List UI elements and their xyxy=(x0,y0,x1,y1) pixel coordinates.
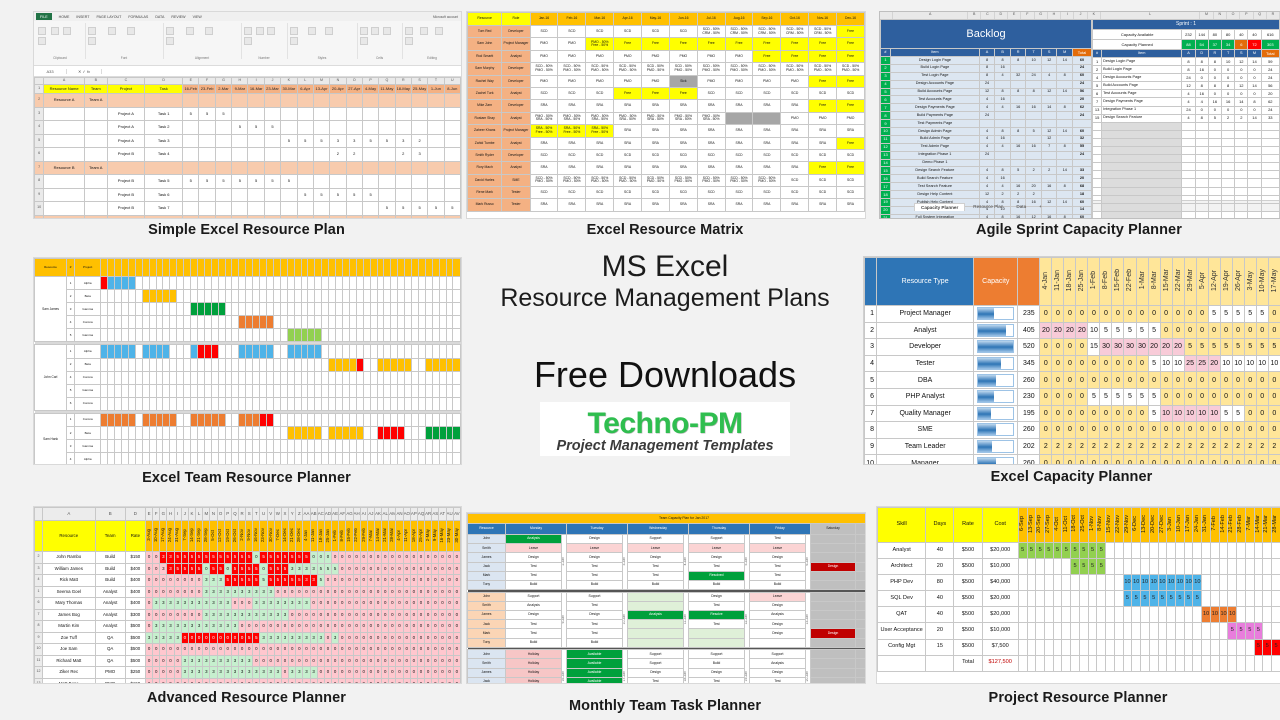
date-header-21-Mar[interactable]: 21-Mar xyxy=(382,521,389,552)
corner-cell[interactable] xyxy=(35,78,44,85)
column-header-E[interactable]: E xyxy=(183,78,199,85)
p2-col-header[interactable]: Resource xyxy=(468,13,502,26)
ribbon-icon[interactable] xyxy=(88,27,96,35)
p4-col-header[interactable]: # xyxy=(67,259,75,277)
ribbon-icon[interactable] xyxy=(51,27,59,35)
table-row[interactable]: 4Rick MattBuild$400000000003335555555555… xyxy=(35,575,461,587)
table-row[interactable]: Rory MachAnalystSRASRASRASRASRASRASRASRA… xyxy=(468,162,865,174)
column-header-AP[interactable]: AP xyxy=(410,508,417,521)
p4-date-header[interactable] xyxy=(349,259,356,277)
date-header-6-Dec[interactable]: 6-Dec xyxy=(1132,508,1141,543)
date-header-23-Nov[interactable]: 23-Nov xyxy=(260,521,267,552)
table-row[interactable]: 21Full System Integration48161216860 xyxy=(881,214,1092,219)
date-header-7-Sep[interactable]: 7-Sep xyxy=(181,521,188,552)
p4-date-header[interactable] xyxy=(425,259,432,277)
table-row[interactable]: David HarlesSMESCD - 50%PMO - 50%SCD - 5… xyxy=(468,174,865,186)
date-header-25-Jan[interactable]: 25-Jan xyxy=(1076,258,1088,306)
sheet-column-E[interactable]: E xyxy=(1008,12,1021,19)
column-header-Y[interactable]: Y xyxy=(289,508,296,521)
p6-table[interactable]: ABDEFGHIJKLMNOPQRSTUVWXYZAAABACADAEAFAGA… xyxy=(34,507,461,684)
ribbon-icon[interactable] xyxy=(244,27,252,35)
column-header-S[interactable]: S xyxy=(411,78,427,85)
column-header-P[interactable]: P xyxy=(362,78,378,85)
column-header-AE[interactable]: AE xyxy=(332,508,339,521)
p4-col-header[interactable]: Project xyxy=(75,259,101,277)
excel-ribbon-body[interactable]: ClipboardFontAlignmentNumberStylesCellsE… xyxy=(34,21,461,66)
table-row[interactable]: JohnAnalysis2-JanDesign3-JanSupport4-Jan… xyxy=(468,535,867,544)
table-row[interactable]: Zahid TumbeAnalystSRASRASRASRASRASRASRAS… xyxy=(468,137,865,149)
table-row[interactable]: Sam James1Alphaxxxxx xyxy=(35,277,461,290)
date-header-30-May[interactable]: 30-May xyxy=(453,521,460,552)
p3-backlog-sprint-grid[interactable]: Backlog#ItemABRTSMTotal1Design Login Pag… xyxy=(880,19,1280,200)
column-header-X[interactable]: X xyxy=(281,508,288,521)
ribbon-icon[interactable] xyxy=(435,27,443,35)
column-header-N[interactable]: N xyxy=(330,78,346,85)
date-header-11-Jan[interactable]: 11-Jan xyxy=(1052,258,1064,306)
column-header-AS[interactable]: AS xyxy=(432,508,439,521)
table-row[interactable]: 15Design Search Feature485221433 xyxy=(881,167,1092,175)
ribbon-icon[interactable] xyxy=(420,27,428,35)
table-row[interactable]: 13Integration Phase 12424 xyxy=(881,151,1092,159)
p4-date-header[interactable] xyxy=(267,259,274,277)
table-row[interactable]: 7Resource BTeam A xyxy=(35,161,461,175)
table-row[interactable]: 4Coronaxxxxx xyxy=(35,316,461,329)
p2-col-header[interactable]: May-16 xyxy=(642,13,670,26)
p8-table[interactable]: SkillDaysRateCost6-Sep13-Sep20-Sep27-Sep… xyxy=(877,507,1280,672)
p4-date-header[interactable] xyxy=(432,259,439,277)
ribbon-tab-review[interactable]: REVIEW xyxy=(171,15,185,19)
p4-date-header[interactable] xyxy=(273,259,280,277)
column-header-P[interactable]: P xyxy=(224,508,231,521)
sprint-col-header[interactable]: Item xyxy=(1102,50,1182,58)
table-row[interactable]: 4Design Accounts Page2424 xyxy=(881,80,1092,88)
column-header-Q[interactable]: Q xyxy=(231,508,238,521)
p4-date-header[interactable] xyxy=(308,259,315,277)
column-header-G[interactable]: G xyxy=(215,78,231,85)
date-header-7-Feb[interactable]: 7-Feb xyxy=(1210,508,1219,543)
table-row[interactable]: 3Test Login Page8432244860 xyxy=(881,72,1092,80)
table-row[interactable]: Rachel WayDeveloperPMOPMOPMOPMOPMOSickPM… xyxy=(468,75,865,87)
column-header-B[interactable]: B xyxy=(85,78,107,85)
sheet-column-corner[interactable] xyxy=(880,12,893,19)
date-header-6-Sep[interactable]: 6-Sep xyxy=(1018,508,1027,543)
p8-project-grid[interactable]: SkillDaysRateCost6-Sep13-Sep20-Sep27-Sep… xyxy=(877,507,1280,672)
date-header-9-May[interactable]: 9-May xyxy=(432,521,439,552)
p4-date-header[interactable] xyxy=(197,259,204,277)
p2-col-header[interactable]: Jul-16 xyxy=(697,13,725,26)
table-row[interactable]: 4Alpha xyxy=(35,453,461,465)
p2-col-header[interactable]: Aug-16 xyxy=(725,13,753,26)
p7-col-header-wednesday[interactable]: Wednesday xyxy=(628,524,689,535)
table-row[interactable]: 3William JamesBuild$40000335555055055550… xyxy=(35,563,461,575)
sheet-column-H[interactable]: H xyxy=(1048,12,1061,19)
panel-monthly-team-task-planner[interactable]: Team Capacity Plan for Jan 2017ResourceM… xyxy=(466,512,866,684)
date-header-10-Jan[interactable]: 10-Jan xyxy=(1176,508,1185,543)
table-row[interactable]: 2John RamboBuild$15000335555555555505555… xyxy=(35,552,461,564)
date-header-26-Apr[interactable]: 26-Apr xyxy=(1232,258,1244,306)
column-header-K[interactable]: K xyxy=(281,78,297,85)
table-row[interactable]: 14Demo Phase 1 xyxy=(881,159,1092,167)
column-header-AO[interactable]: AO xyxy=(403,508,410,521)
column-header-J[interactable]: J xyxy=(181,508,188,521)
ribbon-icon[interactable] xyxy=(290,37,298,45)
date-header-2-May[interactable]: 2-May xyxy=(425,521,432,552)
table-row[interactable]: 13Matt BosePMO$1500000000000000000000000… xyxy=(35,678,461,684)
row-header[interactable]: 8 xyxy=(35,175,44,189)
sprint-col-header[interactable]: T xyxy=(1222,50,1235,58)
table-row[interactable]: JohnHoliday16-JanAvailable17-JanSupport1… xyxy=(468,650,867,659)
column-header-AK[interactable]: AK xyxy=(374,508,381,521)
table-row[interactable]: 2Build Login Page81624 xyxy=(881,64,1092,72)
sprint-col-header[interactable]: S xyxy=(1235,50,1248,58)
sheet-column-M[interactable]: M xyxy=(1200,12,1213,19)
column-header-AD[interactable]: AD xyxy=(324,508,331,521)
table-row[interactable]: 2Betaxxxxx xyxy=(35,290,461,303)
date-header-7-Dec[interactable]: 7-Dec xyxy=(274,521,281,552)
p4-date-header[interactable] xyxy=(301,259,308,277)
sheet-tab-resource-plan[interactable]: Resource Plan xyxy=(968,203,1008,210)
p4-date-header[interactable] xyxy=(329,259,336,277)
sprint-col-header[interactable]: # xyxy=(1093,50,1102,58)
column-header-M[interactable]: M xyxy=(313,78,329,85)
panel-excel-resource-matrix[interactable]: ResourceRoleJan-16Feb-16Mar-16Apr-16May-… xyxy=(466,11,866,219)
table-row[interactable]: Tom RedDeveloperSCDSCDSCDSCDSCDSCDSCD - … xyxy=(468,26,865,38)
p4-date-header[interactable] xyxy=(322,259,329,277)
p4-date-header[interactable] xyxy=(391,259,398,277)
p4-date-header[interactable] xyxy=(294,259,301,277)
date-header-17-May[interactable]: 17-May xyxy=(1268,258,1280,306)
table-row[interactable]: 9Zoe TuffQA$5003333300000000055333333333… xyxy=(35,632,461,644)
panel-project-resource-planner[interactable]: SkillDaysRateCost6-Sep13-Sep20-Sep27-Sep… xyxy=(876,506,1280,684)
table-row[interactable]: 8Build Payments Page2424 xyxy=(881,112,1092,120)
column-header-R[interactable]: R xyxy=(395,78,411,85)
sheet-column-O[interactable]: O xyxy=(1227,12,1240,19)
date-header-15-Feb[interactable]: 15-Feb xyxy=(1112,258,1124,306)
date-header-27-Dec[interactable]: 27-Dec xyxy=(1158,508,1167,543)
table-row[interactable]: 11Resource CTeam A xyxy=(35,215,461,219)
sheet-column-K[interactable]: K xyxy=(1088,12,1101,19)
date-header-25-Jan[interactable]: 25-Jan xyxy=(324,521,331,552)
table-row[interactable]: 2Betaxxxxxxxxxxxxxxx xyxy=(35,358,461,371)
date-header-11-Jan[interactable]: 11-Jan xyxy=(310,521,317,552)
column-header-AQ[interactable]: AQ xyxy=(417,508,424,521)
table-row[interactable]: Rene MarkTesterSCDSCDSCDSCDSCDSCDSCDSCDS… xyxy=(468,187,865,199)
sheet-tab-capacity-planner[interactable]: Capacity Planner xyxy=(914,203,965,211)
table-row[interactable]: 5DBA26000000000000000000000 xyxy=(865,372,1280,389)
column-header-F[interactable]: F xyxy=(153,508,160,521)
ribbon-icon[interactable] xyxy=(256,27,264,35)
column-header-T[interactable]: T xyxy=(253,508,260,521)
date-header-28-Sep[interactable]: 28-Sep xyxy=(203,521,210,552)
table-row[interactable]: 7Design Payments Page44161614862 xyxy=(1093,98,1280,106)
date-header-29-Mar[interactable]: 29-Mar xyxy=(1184,258,1196,306)
ribbon-icon[interactable] xyxy=(38,37,46,45)
ribbon-icon[interactable] xyxy=(405,27,413,35)
p4-date-header[interactable] xyxy=(170,259,177,277)
table-row[interactable]: 2Analyst4052020202010555550000000000 xyxy=(865,322,1280,339)
table-row[interactable]: 10Manager26000000000000000000000 xyxy=(865,455,1280,465)
p4-date-header[interactable] xyxy=(453,259,461,277)
p4-date-header[interactable] xyxy=(418,259,425,277)
ribbon-icon[interactable] xyxy=(383,27,391,35)
date-header-7-Mar[interactable]: 7-Mar xyxy=(367,521,374,552)
add-sheet-icon[interactable]: + xyxy=(1034,203,1047,210)
column-header-Z[interactable]: Z xyxy=(296,508,303,521)
table-row[interactable]: 2Betaxxxxxxxxxxxxxxxxxxx xyxy=(35,427,461,440)
date-header-15-Mar[interactable]: 15-Mar xyxy=(1160,258,1172,306)
column-header-N[interactable]: N xyxy=(210,508,217,521)
p4-date-header[interactable] xyxy=(239,259,246,277)
table-row[interactable]: 4Corona xyxy=(35,371,461,384)
table-row[interactable]: 3Project ATask 1555 xyxy=(35,107,461,121)
p4-date-header[interactable] xyxy=(128,259,135,277)
column-header-AN[interactable]: AN xyxy=(396,508,403,521)
column-header-K[interactable]: K xyxy=(188,508,195,521)
table-row[interactable]: Zaheer KhansProject ManagerSRA - 50%Free… xyxy=(468,125,865,137)
date-header-20-Dec[interactable]: 20-Dec xyxy=(1149,508,1158,543)
p4-date-header[interactable] xyxy=(232,259,239,277)
table-row[interactable]: PHP Dev80$500$40,000101010101010101010 xyxy=(878,575,1280,591)
date-header-4-Jan[interactable]: 4-Jan xyxy=(303,521,310,552)
p2-col-header[interactable]: Feb-16 xyxy=(558,13,586,26)
sheet-column-J[interactable]: J xyxy=(1074,12,1087,19)
table-row[interactable]: Rod SmarttAnalystPMOPMOPMOPMOPMOPMOPMOPM… xyxy=(468,50,865,62)
table-row[interactable]: 11Richard MattQA$50000000333333333300000… xyxy=(35,655,461,667)
ribbon-icon[interactable] xyxy=(38,27,46,35)
p4-date-header[interactable] xyxy=(177,259,184,277)
p4-date-header[interactable] xyxy=(246,259,253,277)
date-header-29-Feb[interactable]: 29-Feb xyxy=(360,521,367,552)
column-header-AC[interactable]: AC xyxy=(317,508,324,521)
p4-table[interactable]: Resource#ProjectSam James1Alphaxxxxx2Bet… xyxy=(34,258,461,465)
date-header-28-Mar[interactable]: 28-Mar xyxy=(389,521,396,552)
table-row[interactable]: 8Martin KimAnalyst$500033333333333300000… xyxy=(35,621,461,633)
sheet-column-G[interactable]: G xyxy=(1035,12,1048,19)
backlog-col-header[interactable]: B xyxy=(995,49,1011,57)
backlog-col-header[interactable]: R xyxy=(1010,49,1026,57)
date-header-7-Mar[interactable]: 7-Mar xyxy=(1245,508,1254,543)
table-row[interactable]: 16Build Search Feature41620 xyxy=(881,175,1092,183)
excel-ribbon-tabs[interactable]: FILE HOME INSERT PAGE LAYOUT FORMULAS DA… xyxy=(34,12,461,21)
table-row[interactable]: 5Gamma xyxy=(35,384,461,397)
sprint-col-header[interactable]: A xyxy=(1182,50,1195,58)
p4-team-planner-grid[interactable]: Resource#ProjectSam James1Alphaxxxxx2Bet… xyxy=(34,258,461,465)
table-row[interactable]: 5Build Accounts Page12888121456 xyxy=(881,88,1092,96)
p4-date-header[interactable] xyxy=(121,259,128,277)
p2-col-header[interactable]: Jan-16 xyxy=(530,13,558,26)
date-header-31-Jan[interactable]: 31-Jan xyxy=(1202,508,1211,543)
column-header-B[interactable]: B xyxy=(95,508,125,521)
table-row[interactable]: QAT40$500$20,00010101010 xyxy=(878,607,1280,623)
ribbon-icon[interactable] xyxy=(360,27,368,35)
excel-formula-bar[interactable]: A33 ✕ ✓ fx xyxy=(34,66,461,77)
ribbon-icon[interactable] xyxy=(244,37,252,45)
p2-table[interactable]: ResourceRoleJan-16Feb-16Mar-16Apr-16May-… xyxy=(467,12,865,212)
date-header-5-Oct[interactable]: 5-Oct xyxy=(210,521,217,552)
table-row[interactable]: 12Ziker RecPMO$2500000033333333333333033… xyxy=(35,667,461,679)
ribbon-tab-file[interactable]: FILE xyxy=(36,13,52,20)
p2-col-header[interactable]: Oct-16 xyxy=(781,13,809,26)
p4-date-header[interactable] xyxy=(384,259,391,277)
table-row[interactable]: 9Team Leader20222222222222222222222 xyxy=(865,438,1280,455)
date-header-1-Nov[interactable]: 1-Nov xyxy=(1088,508,1097,543)
column-header-S[interactable]: S xyxy=(246,508,253,521)
column-header-AF[interactable]: AF xyxy=(339,508,346,521)
p4-date-header[interactable] xyxy=(108,259,115,277)
p4-date-header[interactable] xyxy=(101,259,108,277)
name-box[interactable]: A33 xyxy=(34,69,67,74)
date-header-17-Jan[interactable]: 17-Jan xyxy=(1184,508,1193,543)
ribbon-icon[interactable] xyxy=(290,27,298,35)
column-header-J[interactable]: J xyxy=(264,78,280,85)
column-header-I[interactable]: I xyxy=(174,508,181,521)
p2-col-header[interactable]: Apr-16 xyxy=(614,13,642,26)
table-row[interactable]: SQL Dev40$500$20,000555555555 xyxy=(878,591,1280,607)
backlog-col-header[interactable]: T xyxy=(1026,49,1042,57)
date-header-25-Oct[interactable]: 25-Oct xyxy=(1079,508,1088,543)
date-header-17-Aug[interactable]: 17-Aug xyxy=(160,521,167,552)
ribbon-icon[interactable] xyxy=(166,37,174,45)
p4-date-header[interactable] xyxy=(356,259,363,277)
date-header-28-Dec[interactable]: 28-Dec xyxy=(296,521,303,552)
sprint-col-header[interactable]: D xyxy=(1195,50,1208,58)
date-header-14-Sep[interactable]: 14-Sep xyxy=(188,521,195,552)
p8-col-header-rate[interactable]: Rate xyxy=(954,508,982,543)
column-header-AR[interactable]: AR xyxy=(425,508,432,521)
p5-table[interactable]: Resource TypeCapacity4-Jan11-Jan18-Jan25… xyxy=(864,257,1280,465)
date-header-21-Mar[interactable]: 21-Mar xyxy=(1263,508,1272,543)
p4-date-header[interactable] xyxy=(191,259,198,277)
table-row[interactable]: 13Integration Phase 1240000024 xyxy=(1093,106,1280,114)
p1-worksheet-grid[interactable]: ABCDEFGHIJKLMNOPQRSTU1Resource NameTeamP… xyxy=(34,77,461,219)
date-header-18-Jan[interactable]: 18-Jan xyxy=(317,521,324,552)
ribbon-icon[interactable] xyxy=(325,27,333,35)
p7-table[interactable]: Team Capacity Plan for Jan 2017ResourceM… xyxy=(467,513,866,684)
column-header-O[interactable]: O xyxy=(217,508,224,521)
p4-date-header[interactable] xyxy=(260,259,267,277)
date-header-22-Mar[interactable]: 22-Mar xyxy=(1172,258,1184,306)
corner-cell[interactable] xyxy=(35,508,43,521)
table-row[interactable]: 9Test Payments Page xyxy=(881,120,1092,128)
p7-col-header-resource[interactable]: Resource xyxy=(468,524,506,535)
column-header-H[interactable]: H xyxy=(232,78,248,85)
date-header-8-Mar[interactable]: 8-Mar xyxy=(1148,258,1160,306)
table-row[interactable]: 12Test Admin Page4416167855 xyxy=(881,143,1092,151)
date-header-18-Jan[interactable]: 18-Jan xyxy=(1064,258,1076,306)
p6-advanced-grid[interactable]: ABDEFGHIJKLMNOPQRSTUVWXYZAAABACADAEAFAGA… xyxy=(34,507,461,684)
date-header-30-Nov[interactable]: 30-Nov xyxy=(267,521,274,552)
column-header-Q[interactable]: Q xyxy=(379,78,395,85)
table-row[interactable]: 1Project Manager23500000000000000555550 xyxy=(865,306,1280,323)
column-header-H[interactable]: H xyxy=(167,508,174,521)
ribbon-icon[interactable] xyxy=(205,27,213,35)
p7-col-header-monday[interactable]: Monday xyxy=(506,524,567,535)
table-row[interactable]: 6PHP Analyst23000005555550000000000 xyxy=(865,388,1280,405)
table-row[interactable]: 5Build Accounts Page12888121456 xyxy=(1093,82,1280,90)
row-header[interactable]: 1 xyxy=(35,85,44,94)
capacity-header[interactable]: Capacity xyxy=(974,258,1018,306)
date-header-13-Sep[interactable]: 13-Sep xyxy=(1027,508,1036,543)
table-row[interactable]: 6Corona xyxy=(35,397,461,410)
ribbon-icon[interactable] xyxy=(166,27,174,35)
p7-col-header-thursday[interactable]: Thursday xyxy=(689,524,750,535)
date-header-8-Feb[interactable]: 8-Feb xyxy=(1100,258,1112,306)
sprint-col-header[interactable]: R xyxy=(1208,50,1221,58)
ribbon-tab-formulas[interactable]: FORMULAS xyxy=(128,15,148,19)
sheet-column-Q[interactable]: Q xyxy=(1254,12,1267,19)
table-row[interactable]: Sam Hank1Coronaxxxxxxxxxxxxxxxxxxxx xyxy=(35,413,461,426)
table-row[interactable]: 15Design Search Feature485221433 xyxy=(1093,114,1280,122)
column-header-G[interactable]: G xyxy=(160,508,167,521)
sheet-column-P[interactable]: P xyxy=(1240,12,1253,19)
ribbon-tab-page-layout[interactable]: PAGE LAYOUT xyxy=(97,15,122,19)
column-header-AM[interactable]: AM xyxy=(389,508,396,521)
p4-date-header[interactable] xyxy=(439,259,446,277)
backlog-col-header[interactable]: Item xyxy=(890,49,979,57)
p4-date-header[interactable] xyxy=(142,259,149,277)
column-header-D[interactable]: D xyxy=(145,78,183,85)
table-row[interactable]: Config Mgt15$500$7,500555 xyxy=(878,639,1280,655)
backlog-col-header[interactable]: A xyxy=(979,49,995,57)
date-header-24-Jan[interactable]: 24-Jan xyxy=(1193,508,1202,543)
date-header-15-Feb[interactable]: 15-Feb xyxy=(346,521,353,552)
column-header-A[interactable]: A xyxy=(43,508,95,521)
column-header-U[interactable]: U xyxy=(260,508,267,521)
column-header-AI[interactable]: AI xyxy=(360,508,367,521)
date-header-5-Apr[interactable]: 5-Apr xyxy=(1196,258,1208,306)
p4-date-header[interactable] xyxy=(342,259,349,277)
date-header-28-Mar[interactable]: 28-Mar xyxy=(1272,508,1280,543)
ribbon-tab-insert[interactable]: INSERT xyxy=(76,15,89,19)
column-header-E[interactable]: E xyxy=(145,508,152,521)
table-row[interactable]: 18Design Help Content1222218 xyxy=(881,191,1092,199)
column-header-O[interactable]: O xyxy=(346,78,362,85)
ribbon-icon[interactable] xyxy=(88,37,96,45)
table-row[interactable]: John Carl1Alphaxxxxxxxxxxxxxxxxxxxxxxx xyxy=(35,345,461,358)
table-row[interactable]: 8SME26000000000000000000000 xyxy=(865,422,1280,439)
column-header-F[interactable]: F xyxy=(199,78,215,85)
table-row[interactable]: 4Project ATask 2555 xyxy=(35,121,461,135)
date-header-10-Aug[interactable]: 10-Aug xyxy=(153,521,160,552)
date-header-13-Dec[interactable]: 13-Dec xyxy=(1141,508,1150,543)
sprint-pane[interactable]: Sprint : 1Capacity Available232144808040… xyxy=(1092,19,1280,200)
sheet-column-R[interactable]: R xyxy=(1267,12,1280,19)
date-header-18-Oct[interactable]: 18-Oct xyxy=(1071,508,1080,543)
date-header-23-May[interactable]: 23-May xyxy=(446,521,453,552)
panel-excel-team-resource-planner[interactable]: Resource#ProjectSam James1Alphaxxxxx2Bet… xyxy=(33,257,462,465)
date-header-14-Feb[interactable]: 14-Feb xyxy=(1219,508,1228,543)
table-row[interactable]: 3Gamma xyxy=(35,440,461,453)
date-header-20-Sep[interactable]: 20-Sep xyxy=(1036,508,1045,543)
table-row[interactable]: 2Resource ATeam A xyxy=(35,94,461,108)
table-row[interactable]: Zachel TurkAnalystSCDSCDSCDFreeFreeFreeS… xyxy=(468,87,865,99)
row-header[interactable]: 4 xyxy=(35,121,44,135)
backlog-col-header[interactable]: S xyxy=(1041,49,1057,57)
ribbon-account-label[interactable]: Microsoft account xyxy=(433,15,461,19)
table-row[interactable]: Rustam ShayAnalystPMO - 50%SRA - 50%PMO … xyxy=(468,112,865,124)
p5-capacity-grid[interactable]: Resource TypeCapacity4-Jan11-Jan18-Jan25… xyxy=(864,257,1280,465)
panel-agile-sprint-capacity-planner[interactable]: ABCDEFGHIJKLMNOPQR Backlog#ItemABRTSMTot… xyxy=(879,11,1280,219)
table-row[interactable]: User Acceptance20$500$10,0005555 xyxy=(878,623,1280,639)
p4-col-header[interactable]: Resource xyxy=(35,259,67,277)
table-row[interactable]: Mark RussoTesterSRASRASRASRASRASRASRASRA… xyxy=(468,199,865,211)
date-header-4-Jan[interactable]: 4-Jan xyxy=(1040,258,1052,306)
p4-date-header[interactable] xyxy=(315,259,322,277)
panel-simple-excel-resource-plan[interactable]: FILE HOME INSERT PAGE LAYOUT FORMULAS DA… xyxy=(33,11,462,219)
date-header-22-Feb[interactable]: 22-Feb xyxy=(1124,258,1136,306)
p2-col-header[interactable]: Role xyxy=(502,13,530,26)
date-header-12-Oct[interactable]: 12-Oct xyxy=(217,521,224,552)
